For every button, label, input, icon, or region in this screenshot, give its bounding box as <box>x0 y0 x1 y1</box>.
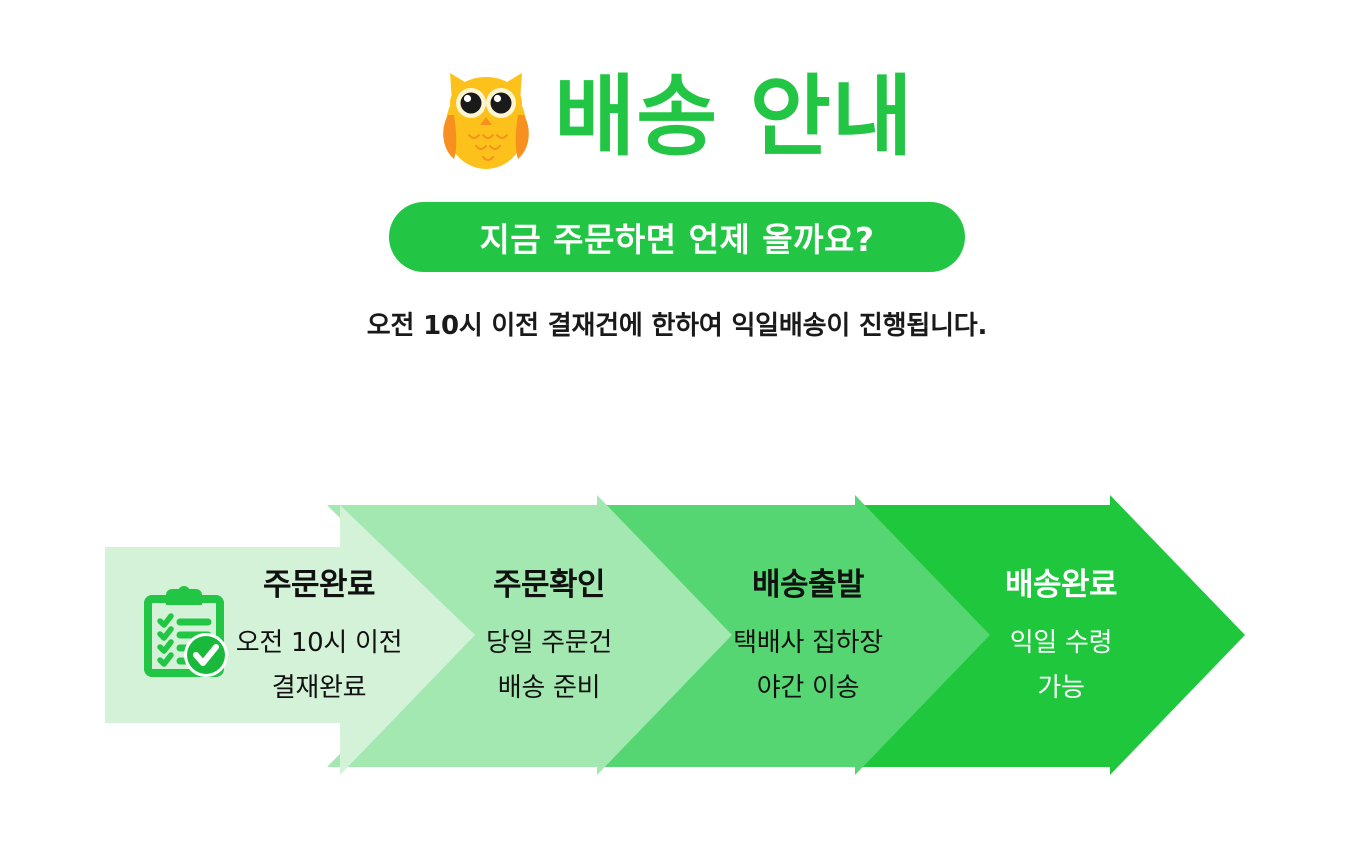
delivery-flow: 주문완료 오전 10시 이전 결재완료 주문확인 당일 주문건 배송 준비 배송… <box>0 495 1354 780</box>
title-row: 배송 안내 <box>0 58 1354 180</box>
page-title: 배송 안내 <box>554 73 913 165</box>
delivery-notice: 오전 10시 이전 결재건에 한하여 익일배송이 진행됩니다. <box>0 305 1354 342</box>
cta-button[interactable]: 지금 주문하면 언제 올까요? <box>389 202 965 272</box>
owl-mascot-icon <box>440 67 532 171</box>
cta-wrap: 지금 주문하면 언제 올까요? <box>0 202 1354 272</box>
clipboard-check-icon <box>138 585 230 677</box>
